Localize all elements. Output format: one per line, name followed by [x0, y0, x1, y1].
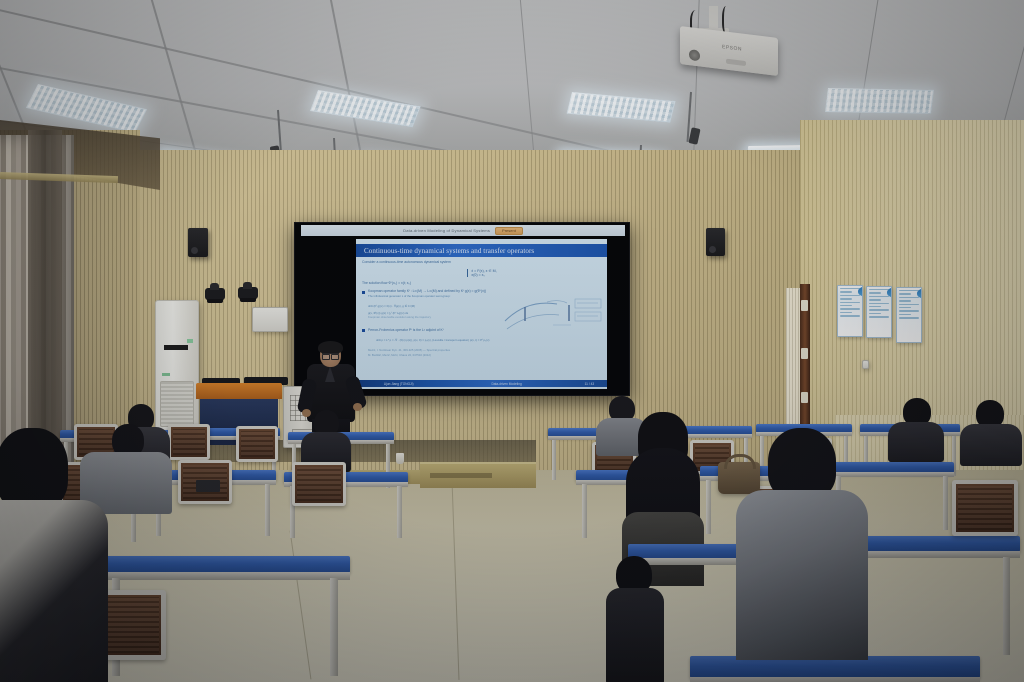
projector-lens: [689, 49, 700, 61]
wall-control-panel[interactable]: [252, 307, 288, 332]
door-hardware-bottom: [801, 392, 808, 403]
bullet-square-icon: [362, 291, 365, 294]
wall-speaker-right: [706, 228, 725, 256]
slide-equation-line-2: x(0) = x₀: [471, 273, 485, 277]
desk-leg: [552, 440, 556, 480]
slide-footer-page: 11 / 43: [572, 382, 607, 386]
paper-cup[interactable]: [396, 453, 404, 464]
chair-left-far-3: [236, 426, 278, 462]
classroom-scene: EPSON Data-driven Modeling of Dynamical …: [0, 0, 1024, 682]
chair-left-far-2: [168, 424, 210, 460]
slide-equation-system: ẋ = F(x), x ∈ M, x(0) = x₀: [362, 269, 602, 277]
notice-board-2: [866, 286, 892, 338]
slide-intro-text: Consider a continuous-time autonomous dy…: [362, 260, 602, 265]
chair-back: [292, 462, 346, 506]
notice-board-3: [896, 287, 922, 343]
projector-cable: [722, 6, 732, 34]
desk-leg: [706, 480, 711, 534]
teaching-platform: [420, 462, 536, 488]
desk-leg: [397, 486, 402, 538]
door-hardware-mid: [801, 348, 808, 359]
desk-edge: [100, 572, 350, 580]
door-hardware-top: [801, 300, 808, 311]
ac-led-indicator-2: [162, 373, 170, 376]
slide-figure: [503, 295, 603, 335]
slide-reference-2: M. Budišić, Mezić, Mohr, Chaos 22, 04751…: [368, 353, 602, 357]
slide-footer: Lijun Jiang (TONGJI) Data-driven Modelin…: [356, 380, 607, 387]
viewer-document-title: Data-driven Modeling of Dynamical System…: [403, 228, 490, 233]
student-body: [0, 500, 108, 682]
student-left-1: [0, 428, 106, 682]
ac-display: [164, 345, 188, 350]
bullet-square-icon: [362, 329, 365, 332]
chair-back: [168, 424, 210, 460]
slide-bullet-2-text: Perron-Frobenius operator Pᵗ is the L² a…: [368, 328, 444, 333]
desk-leg: [582, 484, 587, 538]
light-switch-plate[interactable]: [862, 360, 869, 369]
laptop[interactable]: [196, 480, 220, 492]
notice-board-1: [837, 285, 863, 337]
slide-bullet-2-eq: d/dt p = L* p = -∇ · (F(x) p(x)), p(x, 0…: [376, 338, 602, 342]
student-right-6: [608, 556, 662, 682]
presentation-slide: Continuous-time dynamical systems and tr…: [356, 239, 607, 389]
student-body: [888, 422, 944, 462]
student-body: [960, 424, 1022, 466]
ceiling-light-4: [825, 88, 934, 114]
chair-left-mid-3: [292, 462, 346, 506]
student-body: [606, 588, 664, 682]
student-left-4: [300, 410, 352, 466]
presenter-glasses: [322, 353, 339, 357]
desk-leg: [330, 578, 338, 676]
desk-leg: [1003, 557, 1010, 655]
desk-top: [100, 556, 350, 573]
slide-footer-author: Lijun Jiang (TONGJI): [356, 382, 441, 386]
lectern-top: [196, 383, 282, 399]
slide-title: Continuous-time dynamical systems and tr…: [356, 244, 607, 257]
ac-led-indicator: [187, 339, 193, 343]
desk-edge: [690, 677, 980, 682]
student-right-3: [740, 428, 864, 658]
wall-speaker-left: [188, 228, 208, 257]
pdf-viewer-toolbar[interactable]: Data-driven Modeling of Dynamical System…: [301, 225, 625, 236]
security-camera-right: [238, 287, 258, 299]
slide-flow-text: The solution flow Φᵗ(x₀) = x(t; x₀): [362, 281, 602, 286]
chair-back: [236, 426, 278, 462]
platform-strip: [430, 473, 492, 478]
presenter-hand-right: [353, 403, 362, 411]
desk-leg: [943, 476, 948, 530]
desk-leg: [265, 484, 270, 536]
chair-back: [952, 480, 1018, 536]
student-body: [736, 490, 868, 660]
slide-footer-center: Data-driven Modeling: [441, 382, 572, 386]
student-right-4: [888, 398, 944, 456]
projector-brand-label: EPSON: [722, 44, 742, 52]
present-button[interactable]: Present: [495, 227, 523, 235]
security-camera-left: [205, 288, 225, 300]
student-right-5: [960, 400, 1020, 460]
chair-right-near-2: [952, 480, 1018, 536]
